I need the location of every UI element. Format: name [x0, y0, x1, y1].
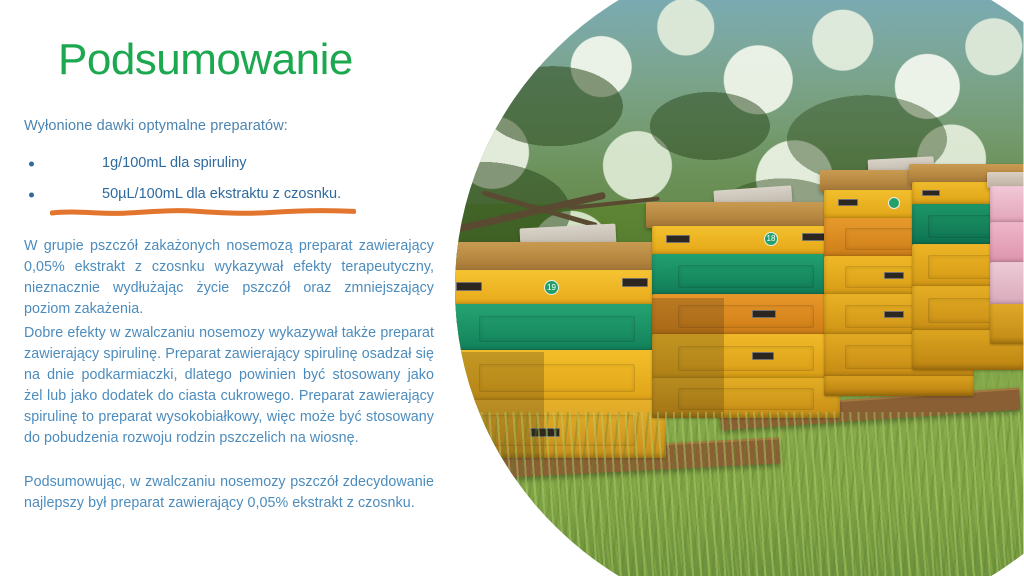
hive-box-orange [652, 294, 840, 336]
beehive-pink [990, 172, 1024, 372]
wavy-line-icon [50, 205, 356, 219]
hive-entrance [622, 278, 648, 287]
dosage-bullet-list: 1g/100mL dla spiruliny 50µL/100mL dla ek… [24, 148, 434, 210]
hive-entrance [922, 190, 940, 196]
photo-content: 19 [420, 0, 1024, 576]
hive-entrance [802, 233, 826, 241]
orange-wavy-divider [50, 205, 356, 219]
hive-lid [646, 202, 845, 228]
hive-box-yellow [448, 350, 666, 402]
hive-entrance [884, 311, 904, 318]
hive-entrance [752, 310, 776, 318]
hive-box-yellow: 18 [652, 226, 840, 256]
hive-box-panel [479, 316, 636, 342]
paragraph-conclusion-spirulina: Dobre efekty w zwalczaniu nosemozy wykaz… [24, 323, 434, 449]
hive-entrance [752, 352, 774, 360]
bullet-dot-icon [29, 161, 34, 166]
hive-box-panel [678, 305, 813, 328]
hive-box-green [652, 254, 840, 296]
apiary-photo: 19 [420, 0, 1024, 576]
list-item: 1g/100mL dla spiruliny [24, 148, 434, 179]
hive-box-panel [678, 388, 813, 410]
paragraph-final-summary: Podsumowując, w zwalczaniu nosemozy pszc… [24, 472, 434, 514]
hive-box-green [448, 304, 666, 352]
page-title: Podsumowanie [58, 36, 353, 84]
paragraph-conclusion-garlic: W grupie pszczół zakażonych nosemozą pre… [24, 236, 434, 320]
intro-text: Wyłonione dawki optymalne preparatów: [24, 118, 288, 134]
hive-number-tag: 18 [764, 232, 778, 246]
hive-box-pink [990, 262, 1024, 306]
hive-box-panel [479, 364, 636, 392]
hive-box-pink [990, 186, 1024, 224]
hive-lid [441, 242, 672, 272]
beehive: 18 [652, 202, 840, 418]
hive-entrance [838, 199, 858, 206]
hive-box-panel [678, 346, 813, 371]
hive-box-yellow: 19 [448, 270, 666, 306]
hive-box-yellow [990, 304, 1024, 344]
hive-number-tag: 19 [544, 280, 559, 295]
text-column: Podsumowanie Wyłonione dawki optymalne p… [0, 0, 460, 576]
bullet-dot-icon [29, 192, 34, 197]
list-item-label: 1g/100mL dla spiruliny [102, 155, 247, 171]
hive-box-pink [990, 222, 1024, 264]
hive-number-tag [888, 197, 900, 209]
slide-canvas: 19 [0, 0, 1024, 576]
hive-box-panel [678, 265, 813, 288]
foreground-grass [420, 412, 1024, 576]
list-item-label: 50µL/100mL dla ekstraktu z czosnku. [102, 186, 341, 202]
hive-box-yellow [652, 334, 840, 380]
hive-entrance [666, 235, 690, 243]
hive-entrance [884, 272, 904, 279]
